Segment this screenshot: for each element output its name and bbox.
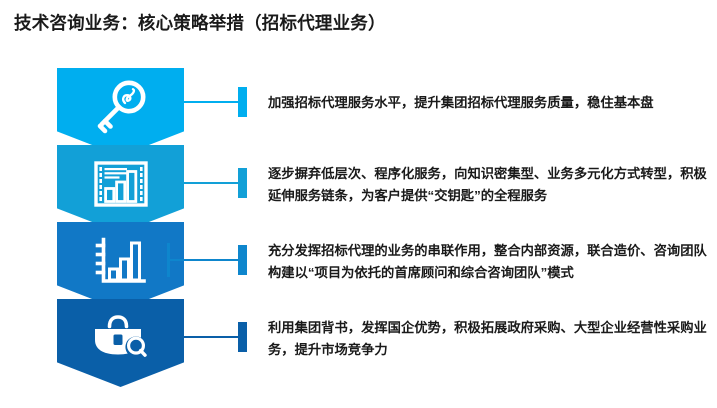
row-text-1: 加强招标代理服务水平，提升集团招标代理服务质量，稳住基本盘 <box>268 92 717 114</box>
key-search-icon <box>57 74 184 140</box>
marker-bar-1 <box>238 87 247 117</box>
marker-bar-4 <box>238 322 247 352</box>
marker-bar-3 <box>238 245 247 275</box>
connector-line-2 <box>167 182 242 184</box>
page-title: 技术咨询业务：核心策略举措（招标代理业务） <box>14 10 386 35</box>
chevron-row-2[interactable] <box>57 145 184 233</box>
marker-bar-2 <box>238 168 247 198</box>
connector-line-1 <box>167 101 242 103</box>
bar-chart-axis-icon <box>57 228 184 294</box>
chevron-stack <box>57 68 184 384</box>
briefcase-search-icon <box>57 305 184 371</box>
chart-board-icon <box>57 151 184 217</box>
row-text-3: 充分发挥招标代理的业务的串联作用，整合内部资源，联合造价、咨询团队构建以“项目为… <box>268 240 717 284</box>
connector-line-4 <box>167 336 242 338</box>
chevron-row-3[interactable] <box>57 222 184 310</box>
chevron-row-1[interactable] <box>57 68 184 156</box>
row-text-2: 逐步摒弃低层次、程序化服务，向知识密集型、业务多元化方式转型，积极延伸服务链条，… <box>268 163 717 207</box>
chevron-row-4[interactable] <box>57 299 184 387</box>
row-text-4: 利用集团背书，发挥国企优势，积极拓展政府采购、大型企业经营性采购业务，提升市场竞… <box>268 317 717 361</box>
connector-line-3 <box>167 259 242 261</box>
